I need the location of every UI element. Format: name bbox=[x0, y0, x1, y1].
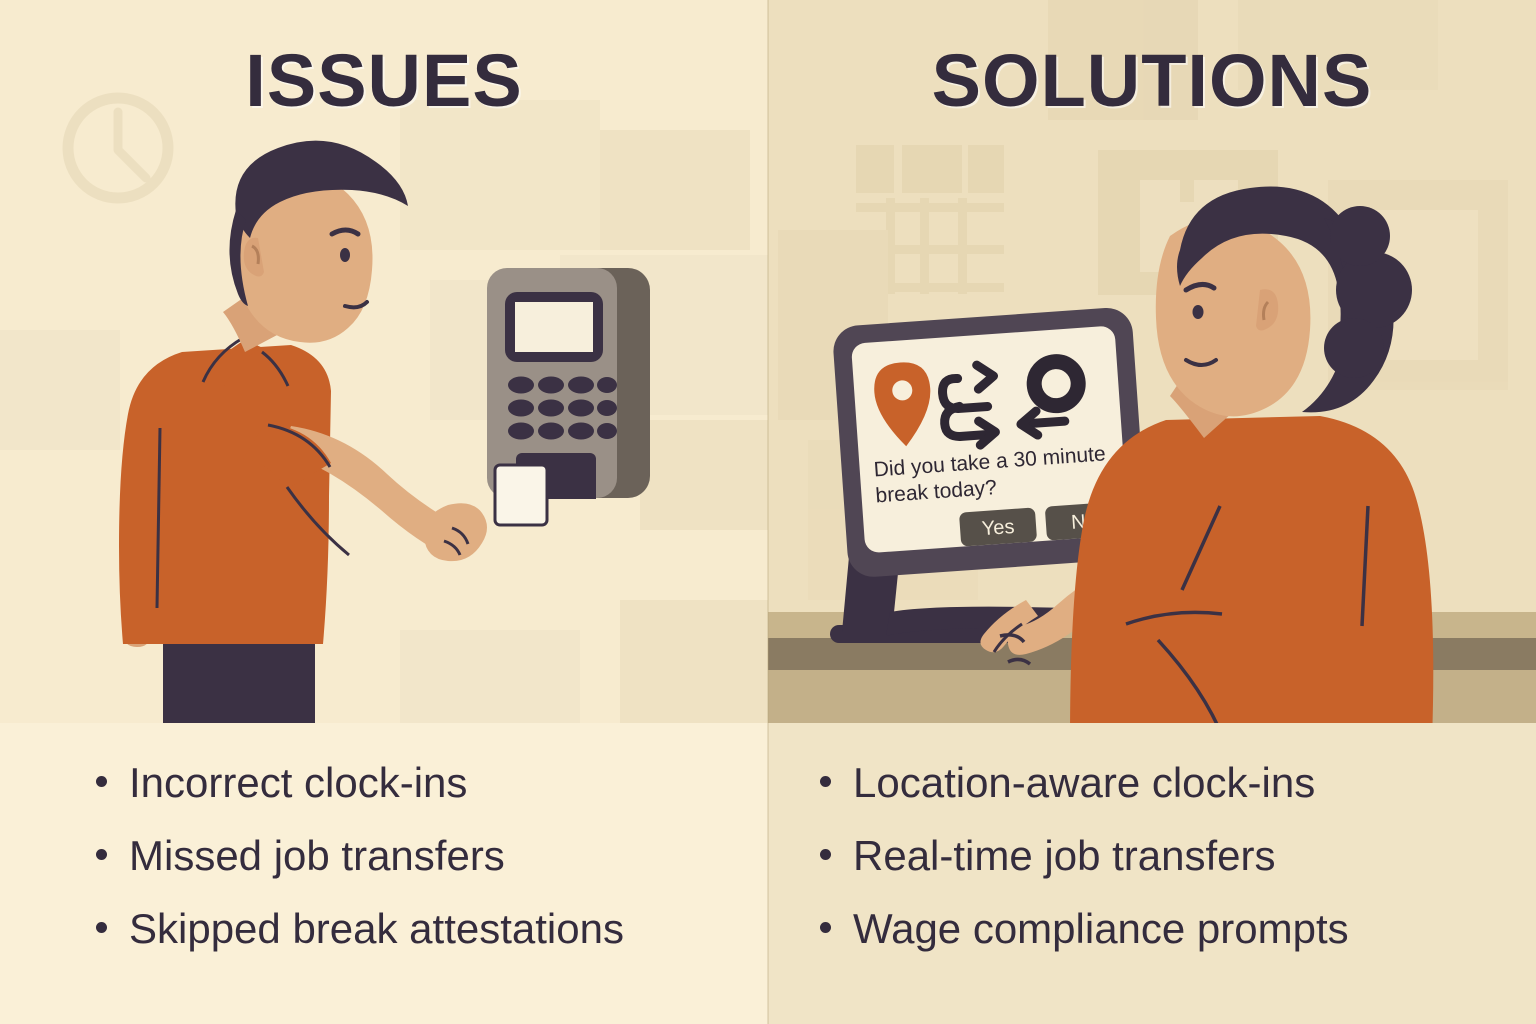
bullet-label: Location-aware clock-ins bbox=[853, 762, 1315, 804]
keypad bbox=[508, 377, 617, 440]
list-item: Skipped break attestations bbox=[96, 908, 756, 950]
bullet-label: Incorrect clock-ins bbox=[129, 762, 467, 804]
list-item: Incorrect clock-ins bbox=[96, 762, 756, 804]
list-item: Wage compliance prompts bbox=[820, 908, 1349, 950]
list-item: Real-time job transfers bbox=[820, 835, 1349, 877]
list-item: Missed job transfers bbox=[96, 835, 756, 877]
solutions-title: SOLUTIONS bbox=[768, 38, 1536, 123]
yes-button-label: Yes bbox=[981, 516, 1015, 540]
bullet-dot-icon bbox=[96, 849, 107, 860]
badge-card bbox=[495, 465, 547, 525]
list-item: Location-aware clock-ins bbox=[820, 762, 1349, 804]
issues-panel: ISSUES Incorrect clock-ins Missed job tr… bbox=[0, 0, 768, 1024]
bullet-dot-icon bbox=[820, 849, 831, 860]
bullet-label: Missed job transfers bbox=[129, 835, 505, 877]
bullet-dot-icon bbox=[820, 776, 831, 787]
issues-bullet-list: Incorrect clock-ins Missed job transfers… bbox=[96, 762, 756, 981]
bullet-dot-icon bbox=[96, 922, 107, 933]
shirt bbox=[1070, 416, 1433, 740]
shirt bbox=[119, 345, 331, 644]
bullet-label: Skipped break attestations bbox=[129, 908, 624, 950]
panel-divider bbox=[767, 0, 769, 1024]
solutions-panel: Did you take a 30 minute break today? Ye… bbox=[768, 0, 1536, 1024]
eye bbox=[340, 248, 350, 262]
solutions-bullet-list: Location-aware clock-ins Real-time job t… bbox=[820, 762, 1349, 981]
issues-title: ISSUES bbox=[0, 38, 768, 123]
yes-button[interactable]: Yes bbox=[959, 507, 1037, 546]
bullet-label: Real-time job transfers bbox=[853, 835, 1275, 877]
bullet-label: Wage compliance prompts bbox=[853, 908, 1349, 950]
bullet-dot-icon bbox=[96, 776, 107, 787]
bullet-dot-icon bbox=[820, 922, 831, 933]
infographic-poster: ISSUES Incorrect clock-ins Missed job tr… bbox=[0, 0, 1536, 1024]
eye bbox=[1193, 305, 1204, 319]
